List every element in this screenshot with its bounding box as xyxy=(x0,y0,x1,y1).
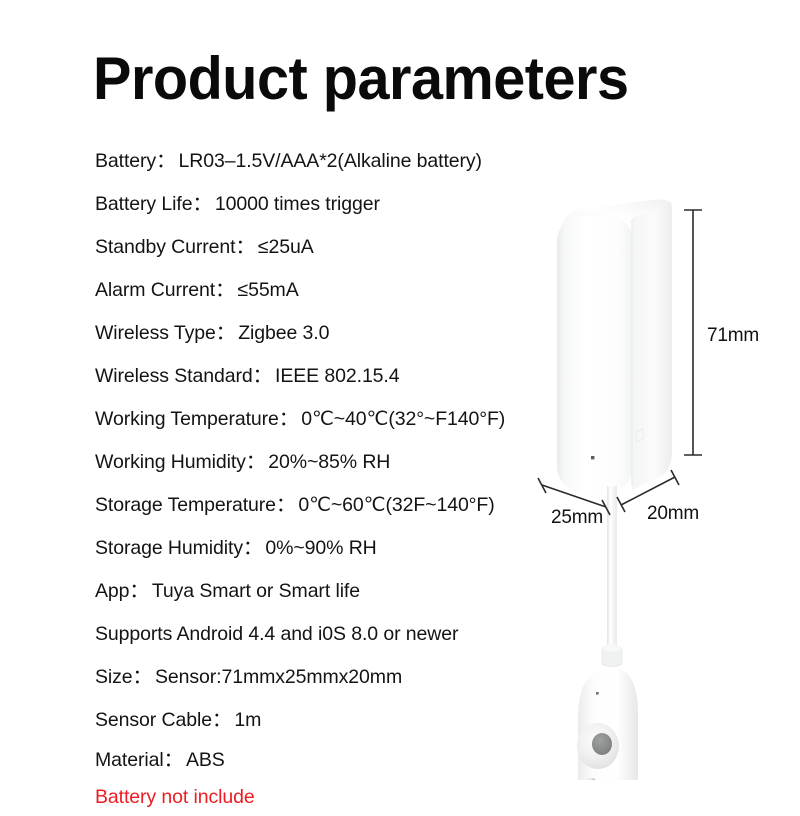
spec-row-app: App：Tuya Smart or Smart life xyxy=(95,570,565,613)
spec-value: ABS xyxy=(186,749,225,771)
sensor-cable xyxy=(602,486,622,667)
probe-dot-icon xyxy=(596,692,599,695)
spec-row-sensor-cable: Sensor Cable：1m xyxy=(95,699,565,742)
spec-key: Working Humidity xyxy=(95,451,246,473)
spec-row-battery: Battery：LR03–1.5V/AAA*2(Alkaline battery… xyxy=(95,140,565,183)
spec-value: Tuya Smart or Smart life xyxy=(152,580,360,602)
dim-depth-cap-left xyxy=(617,497,625,512)
product-illustration xyxy=(520,180,800,780)
spec-value: Sensor:71mmx25mmx20mm xyxy=(155,666,402,688)
spec-key: Wireless Standard xyxy=(95,365,253,387)
spec-value: 20%~85% RH xyxy=(268,451,390,473)
spec-key: Battery xyxy=(95,150,156,172)
sensor-body xyxy=(557,200,672,493)
spec-row-alarm-current: Alarm Current：≤55mA xyxy=(95,269,565,312)
body-front-face xyxy=(557,216,633,492)
spec-separator: ： xyxy=(212,709,234,731)
cable-tube xyxy=(607,486,617,648)
spec-key: Material xyxy=(95,749,164,771)
spec-key: Wireless Type xyxy=(95,322,216,344)
led-indicator-icon xyxy=(591,456,594,459)
spec-separator: ： xyxy=(243,537,265,559)
spec-row-wireless-standard: Wireless Standard：IEEE 802.15.4 xyxy=(95,355,565,398)
spec-row-size: Size：Sensor:71mmx25mmx20mm xyxy=(95,656,565,699)
spec-separator: ： xyxy=(246,451,268,473)
dimension-height-label: 71mm xyxy=(707,325,759,347)
spec-value: 0%~90% RH xyxy=(265,537,376,559)
probe-sensor-core xyxy=(592,733,612,755)
probe-head xyxy=(577,668,638,780)
spec-value: 1m xyxy=(234,709,261,731)
spec-row-battery-not-included: Battery not include xyxy=(95,779,565,816)
spec-row-storage-humidity: Storage Humidity：0%~90% RH xyxy=(95,527,565,570)
spec-note: Battery not include xyxy=(95,786,255,808)
cable-collar-top xyxy=(602,645,622,652)
spec-separator: ： xyxy=(133,666,155,688)
spec-separator: ： xyxy=(276,494,298,516)
spec-key: Size xyxy=(95,666,133,688)
spec-value: Zigbee 3.0 xyxy=(238,322,329,344)
spec-key: Battery Life xyxy=(95,193,192,215)
spec-value: 10000 times trigger xyxy=(215,193,380,215)
spec-key: App xyxy=(95,580,129,602)
spec-value: IEEE 802.15.4 xyxy=(275,365,399,387)
body-side-face xyxy=(632,202,672,490)
spec-separator: ： xyxy=(253,365,275,387)
spec-separator: ： xyxy=(216,322,238,344)
spec-value: 0℃~40℃(32°~F140°F) xyxy=(301,408,505,430)
spec-separator: ： xyxy=(164,749,186,771)
page-title: Product parameters xyxy=(93,48,629,110)
spec-separator: ： xyxy=(279,408,301,430)
spec-row-working-temperature: Working Temperature：0℃~40℃(32°~F140°F) xyxy=(95,398,565,441)
spec-separator: ： xyxy=(129,580,151,602)
spec-row-working-humidity: Working Humidity：20%~85% RH xyxy=(95,441,565,484)
spec-row-storage-temperature: Storage Temperature：0℃~60℃(32F~140°F) xyxy=(95,484,565,527)
spec-value: 0℃~60℃(32F~140°F) xyxy=(298,494,494,516)
dimension-depth-label: 20mm xyxy=(647,503,699,525)
spec-row-os-support: Supports Android 4.4 and i0S 8.0 or newe… xyxy=(95,613,565,656)
spec-key: Working Temperature xyxy=(95,408,279,430)
spec-value: ≤55mA xyxy=(237,279,298,301)
spec-separator: ： xyxy=(192,193,214,215)
spec-key: Storage Temperature xyxy=(95,494,276,516)
spec-value: ≤25uA xyxy=(258,236,314,258)
specifications-list: Battery：LR03–1.5V/AAA*2(Alkaline battery… xyxy=(95,140,565,816)
spec-key: Supports Android 4.4 and i0S 8.0 or newe… xyxy=(95,623,458,645)
spec-row-standby-current: Standby Current：≤25uA xyxy=(95,226,565,269)
dimension-width-label: 25mm xyxy=(551,507,603,529)
spec-key: Standby Current xyxy=(95,236,236,258)
spec-value: LR03–1.5V/AAA*2(Alkaline battery) xyxy=(178,150,481,172)
spec-row-wireless-type: Wireless Type：Zigbee 3.0 xyxy=(95,312,565,355)
dimension-height xyxy=(684,210,702,455)
spec-key: Storage Humidity xyxy=(95,537,243,559)
spec-row-battery-life: Battery Life：10000 times trigger xyxy=(95,183,565,226)
spec-separator: ： xyxy=(156,150,178,172)
spec-separator: ： xyxy=(236,236,258,258)
spec-row-material: Material：ABS xyxy=(95,742,565,779)
spec-key: Sensor Cable xyxy=(95,709,212,731)
dim-depth-cap-right xyxy=(671,470,679,485)
spec-key: Alarm Current xyxy=(95,279,215,301)
spec-separator: ： xyxy=(215,279,237,301)
